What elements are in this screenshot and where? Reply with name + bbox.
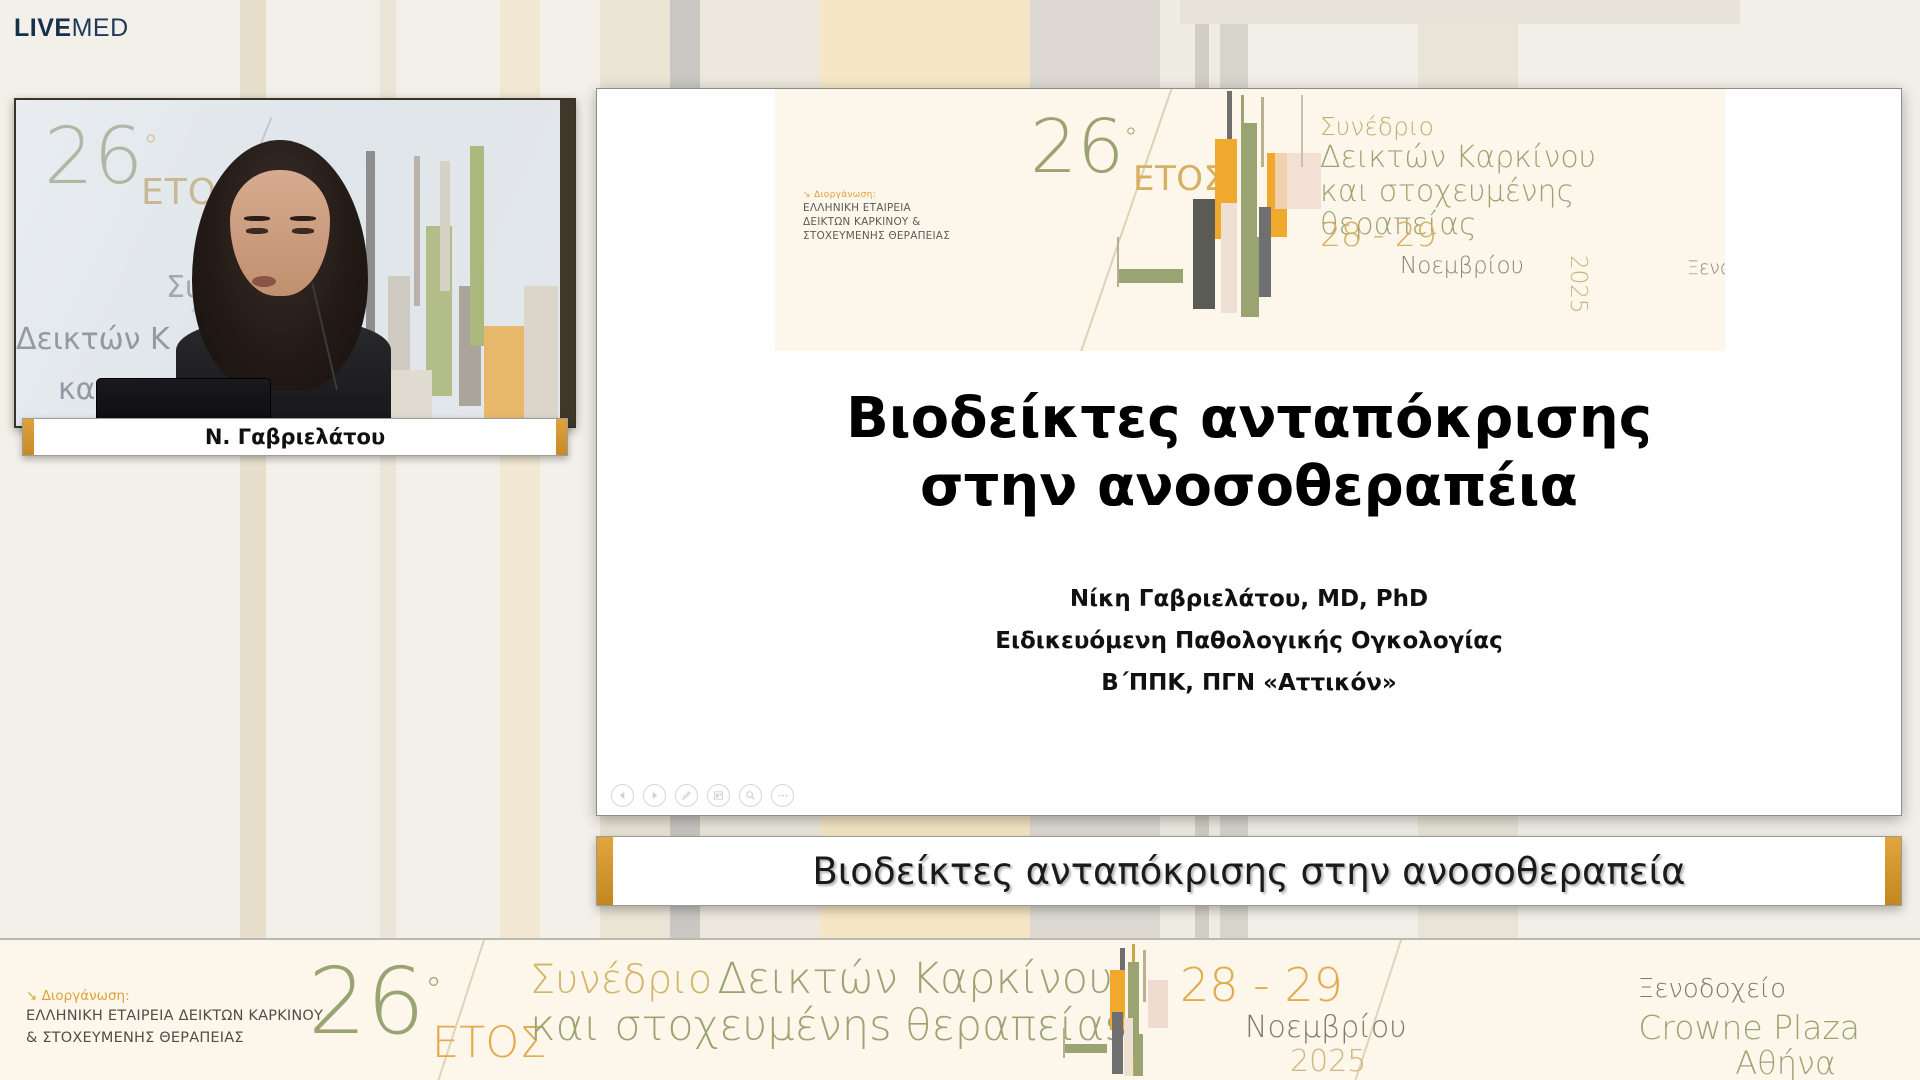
video-right-frame xyxy=(560,100,574,426)
banner-bar xyxy=(1241,237,1259,317)
banner-bar xyxy=(1241,123,1257,243)
footer-city: Αθήνα xyxy=(1735,1044,1836,1080)
slide-main-title: Βιοδείκτες ανταπόκρισης στην ανοσοθεραπέ… xyxy=(597,385,1901,522)
banner-organizer-prefix: ↘ Διοργάνωση: xyxy=(803,189,950,201)
more-options-icon[interactable] xyxy=(771,784,794,807)
banner-bar xyxy=(1119,269,1183,283)
banner-organizer-line2: ΔΕΙΚΤΩΝ ΚΑΡΚΙΝΟΥ & xyxy=(803,215,950,229)
footer-organizer-line2: & ΣΤΟΧΕΥΜΕΝΗΣ ΘΕΡΑΠΕΙΑΣ xyxy=(26,1028,323,1050)
zoom-search-icon[interactable] xyxy=(739,784,762,807)
speaker-video-panel[interactable]: 26° ΕΤΟΣ Συ Δεικτών Κ και στο xyxy=(14,98,576,428)
footer-dates: 28 - 29 xyxy=(1180,958,1343,1012)
banner-organizer-line3: ΣΤΟΧΕΥΜΕΝΗΣ ΘΕΡΑΠΕΙΑΣ xyxy=(803,229,950,243)
slide-affiliation-1: Ειδικευόμενη Παθολογικής Ογκολογίας xyxy=(597,621,1901,663)
banner-month: Νοεμβρίου xyxy=(1400,253,1524,279)
slide-player-toolbar[interactable] xyxy=(611,784,794,807)
footer-conference-banner: ↘ Διοργάνωση: ΕΛΛΗΝΙΚΗ ΕΤΑΙΡΕΙΑ ΔΕΙΚΤΩΝ … xyxy=(0,938,1920,1080)
footer-hotel-prefix: Ξενοδοχείο xyxy=(1638,974,1786,1004)
backdrop-bar xyxy=(470,146,484,346)
footer-bar xyxy=(1063,1028,1065,1058)
slide-title-line1: Βιοδείκτες ανταπόκρισης xyxy=(597,385,1901,453)
livemed-logo: LIVEMED xyxy=(14,14,129,43)
banner-organizer-block: ↘ Διοργάνωση: ΕΛΛΗΝΙΚΗ ΕΤΑΙΡΕΙΑ ΔΕΙΚΤΩΝ … xyxy=(803,189,950,244)
banner-bar xyxy=(1193,199,1215,309)
banner-bar xyxy=(1275,153,1321,209)
nameplate-accent-left xyxy=(23,419,34,455)
footer-bar xyxy=(1143,950,1146,1002)
backdrop-line2: Δεικτών Κ xyxy=(16,322,170,357)
footer-degree: ° xyxy=(425,970,442,1010)
footer-bar xyxy=(1134,1034,1143,1076)
footer-organizer-block: ↘ Διοργάνωση: ΕΛΛΗΝΙΚΗ ΕΤΑΙΡΕΙΑ ΔΕΙΚΤΩΝ … xyxy=(26,986,323,1050)
banner-year: 2025 xyxy=(1565,255,1591,314)
slide-viewer[interactable]: ↘ Διοργάνωση: ΕΛΛΗΝΙΚΗ ΕΤΑΙΡΕΙΑ ΔΕΙΚΤΩΝ … xyxy=(596,88,1902,816)
banner-bar xyxy=(1261,97,1264,167)
slide-author-name: Νίκη Γαβριελάτου, MD, PhD xyxy=(597,579,1901,621)
banner-bar xyxy=(1221,203,1237,313)
footer-hotel-name: Crowne Plaza xyxy=(1638,1008,1860,1047)
speaker-mouth xyxy=(252,276,276,287)
caption-title: Βιοδείκτες ανταπόκρισης στην ανοσοθεραπε… xyxy=(812,850,1685,893)
footer-organizer-line1: ΕΛΛΗΝΙΚΗ ΕΤΑΙΡΕΙΑ ΔΕΙΚΤΩΝ ΚΑΡΚΙΝΟΥ xyxy=(26,1006,323,1028)
footer-month: Νοεμβρίου xyxy=(1245,1010,1407,1045)
footer-title-line2: Δεικτών Καρκίνου xyxy=(717,954,1113,1004)
caption-accent-right xyxy=(1885,837,1901,905)
slide-affiliation-2: Β΄ΠΠΚ, ΠΓΝ «Αττικόν» xyxy=(597,663,1901,705)
footer-bar xyxy=(1148,980,1168,1028)
banner-organizer-line1: ΕΛΛΗΝΙΚΗ ΕΤΑΙΡΕΙΑ xyxy=(803,201,950,215)
backdrop-bar xyxy=(484,326,524,426)
speaker-eyebrow-left xyxy=(244,216,270,221)
banner-year-number: 26° xyxy=(1030,113,1138,181)
footer-bar xyxy=(1112,1012,1123,1074)
slide-header-banner: ↘ Διοργάνωση: ΕΛΛΗΝΙΚΗ ΕΤΑΙΡΕΙΑ ΔΕΙΚΤΩΝ … xyxy=(775,88,1725,351)
backdrop-bar xyxy=(414,156,420,306)
backdrop-bar xyxy=(524,286,558,426)
footer-title-line3: και στοχευμένηs θεραπείαs xyxy=(530,1003,1127,1050)
backdrop-bar xyxy=(440,161,450,291)
slide-author-block: Νίκη Γαβριελάτου, MD, PhD Ειδικευόμενη Π… xyxy=(597,579,1901,705)
banner-degree: ° xyxy=(1124,122,1138,153)
banner-etos: ΕΤΟΣ xyxy=(1133,159,1226,199)
pen-annotate-icon[interactable] xyxy=(675,784,698,807)
next-slide-icon[interactable] xyxy=(643,784,666,807)
footer-bar xyxy=(1065,1044,1107,1053)
slide-overview-icon[interactable] xyxy=(707,784,730,807)
banner-bar xyxy=(1301,95,1303,167)
banner-title-line2: Δεικτών Καρκίνου xyxy=(1320,141,1725,175)
speaker-eyebrow-right xyxy=(290,216,316,221)
speaker-video[interactable]: 26° ΕΤΟΣ Συ Δεικτών Κ και στο xyxy=(14,98,576,428)
previous-slide-icon[interactable] xyxy=(611,784,634,807)
banner-dates: 28 - 29 xyxy=(1320,215,1437,254)
speaker-nameplate: Ν. Γαβριελάτου xyxy=(22,418,568,456)
footer-title-block: Συνέδριο Δεικτών Καρκίνου και στοχευμένη… xyxy=(530,956,1127,1051)
banner-bar xyxy=(1259,207,1271,297)
caption-accent-left xyxy=(597,837,613,905)
footer-title-line1: Συνέδριο xyxy=(530,957,712,1003)
session-caption-bar: Βιοδείκτες ανταπόκρισης στην ανοσοθεραπε… xyxy=(596,836,1902,906)
footer-organizer-prefix: ↘ Διοργάνωση: xyxy=(26,986,323,1006)
nameplate-accent-right xyxy=(556,419,567,455)
footer-year: 2025 xyxy=(1290,1044,1366,1079)
footer-bar xyxy=(1124,1018,1133,1076)
footer-title-row1: Συνέδριο Δεικτών Καρκίνου xyxy=(530,956,1127,1003)
bg-band-top-strip xyxy=(1180,0,1740,24)
banner-title-line1: Συνέδριο xyxy=(1320,113,1725,141)
logo-live: LIVE xyxy=(14,14,72,42)
logo-med: MED xyxy=(72,14,129,42)
speaker-eye-left xyxy=(246,228,268,234)
speaker-eye-right xyxy=(292,228,314,234)
speaker-name: Ν. Γαβριελάτου xyxy=(205,425,385,449)
banner-hotel-prefix: Ξενοδοχείο xyxy=(1687,257,1725,279)
footer-year-number: 26° xyxy=(308,958,442,1045)
slide-title-line2: στην ανοσοθεραπέια xyxy=(597,453,1901,521)
backdrop-degree: ° xyxy=(143,129,158,164)
